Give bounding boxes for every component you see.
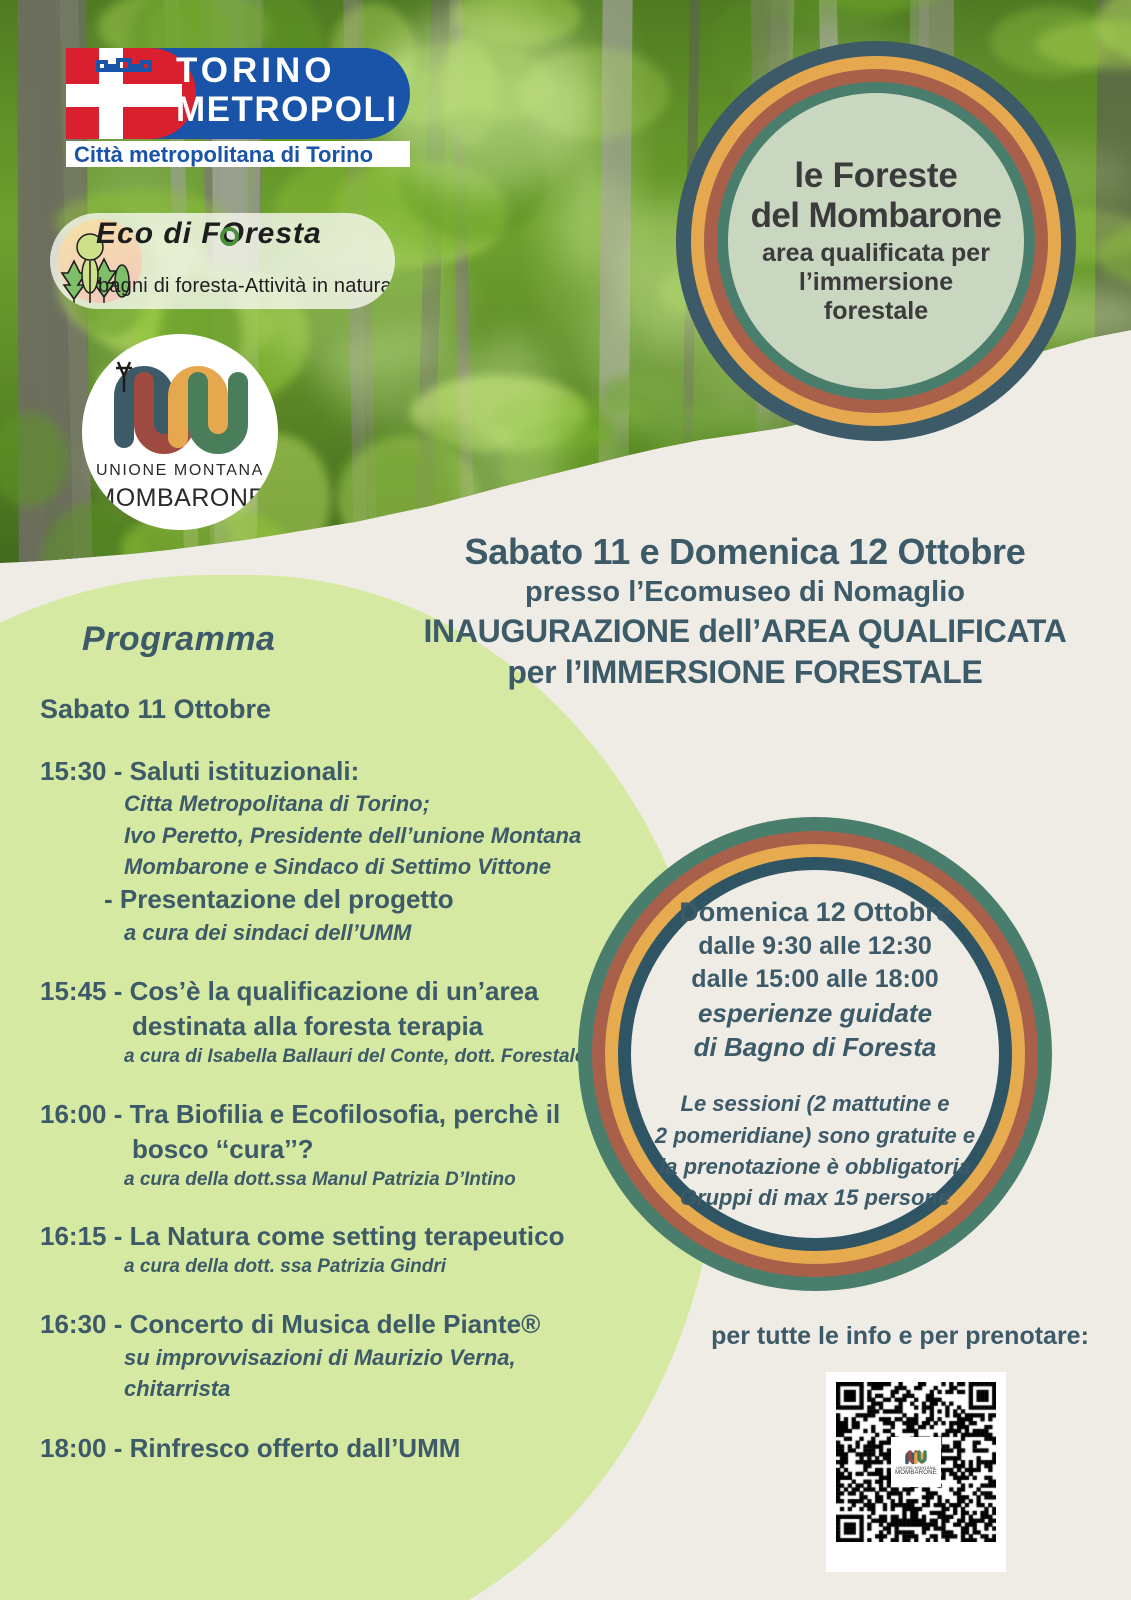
badge-line2: del Mombarone	[751, 196, 1002, 235]
header-dates: Sabato 11 e Domenica 12 Ottobre	[395, 530, 1095, 573]
badge-ring-brown: le Foreste del Mombarone area qualificat…	[704, 69, 1048, 413]
programma-slot: 15:30 - Saluti istituzionali: Citta Metr…	[40, 754, 620, 949]
domenica-note3: la prenotazione è obbligatoria	[659, 1151, 971, 1182]
slot-main: 15:45 - Cos’è la qualificazione di un’ar…	[40, 974, 620, 1009]
slot-main: 16:15 - La Natura come setting terapeuti…	[40, 1219, 620, 1254]
domenica-note2: 2 pomeridiane) sono gratuite e	[655, 1120, 975, 1151]
domenica-note4: Gruppi di max 15 persone	[680, 1182, 950, 1213]
torino-line2: METROPOLI	[176, 92, 398, 127]
header-block: Sabato 11 e Domenica 12 Ottobre presso l…	[395, 530, 1095, 692]
slot-main-cont: bosco ‘‘cura’’?	[40, 1132, 620, 1167]
programma-slot: 16:15 - La Natura come setting terapeuti…	[40, 1219, 620, 1281]
slot-main: 18:00 - Rinfresco offerto dall’UMM	[40, 1431, 620, 1466]
header-title-line2: per l’IMMERSIONE FORESTALE	[395, 652, 1095, 692]
slot-main: 16:30 - Concerto di Musica delle Piante®	[40, 1307, 620, 1342]
logo-unione-montana-mombarone: UNIONE MONTANA MOMBARONE	[82, 334, 278, 530]
poster-root: TORINO METROPOLI Città metropolitana di …	[0, 0, 1131, 1600]
eco-o-ring-icon	[220, 227, 239, 246]
slot-sub: su improvvisazioni di Maurizio Verna, ch…	[40, 1342, 620, 1404]
umm-line1: UNIONE MONTANA	[82, 462, 278, 480]
domenica-time2: dalle 15:00 alle 18:00	[691, 963, 938, 997]
domenica-time1: dalle 9:30 alle 12:30	[698, 930, 931, 964]
mombarone-forest-badge: le Foreste del Mombarone area qualificat…	[676, 41, 1076, 441]
domenica-ring-brown: Domenica 12 Ottobre dalle 9:30 alle 12:3…	[592, 831, 1038, 1277]
programma-slot: 18:00 - Rinfresco offerto dall’UMM	[40, 1431, 620, 1466]
torino-line3: Città metropolitana di Torino	[74, 142, 373, 167]
badge-line4: l’immersione forestale	[746, 268, 1006, 326]
qr-code[interactable]: UNIONE MONTANA MOMBARONE	[826, 1372, 1006, 1572]
slot-main: 15:30 - Saluti istituzionali:	[40, 754, 620, 789]
domenica-ring-orange: Domenica 12 Ottobre dalle 9:30 alle 12:3…	[605, 844, 1025, 1264]
header-title-line1: INAUGURAZIONE dell’AREA QUALIFICATA	[395, 611, 1095, 651]
domenica-title: Domenica 12 Ottobre	[679, 895, 951, 930]
domenica-note1: Le sessioni (2 mattutine e	[681, 1088, 950, 1119]
programma-slot: 15:45 - Cos’è la qualificazione di un’ar…	[40, 974, 620, 1071]
logo-torino-metropoli: TORINO METROPOLI Città metropolitana di …	[66, 48, 410, 165]
programma-slot: 16:30 - Concerto di Musica delle Piante®…	[40, 1307, 620, 1404]
domenica-activity2: di Bagno di Foresta	[694, 1031, 937, 1065]
badge-ring-green: le Foreste del Mombarone area qualificat…	[717, 82, 1035, 400]
slot-sub: a cura della dott. ssa Patrizia Gindri	[40, 1254, 620, 1281]
slot-main-secondary: - Presentazione del progetto	[40, 882, 620, 917]
umm-mark-small-icon	[901, 1448, 931, 1465]
logo-eco-di-foresta: Eco di FOresta bagni di foresta-Attività…	[50, 213, 395, 309]
slot-sub: a cura dei sindaci dell’UMM	[40, 917, 620, 948]
programma-list: Sabato 11 Ottobre 15:30 - Saluti istituz…	[40, 692, 620, 1465]
slot-main: 16:00 - Tra Biofilia e Ecofilosofia, per…	[40, 1097, 620, 1132]
badge-line1: le Foreste	[794, 156, 957, 195]
torino-line1: TORINO	[176, 53, 335, 88]
domenica-activity1: esperienze guidate	[698, 997, 932, 1031]
badge-core: le Foreste del Mombarone area qualificat…	[728, 93, 1024, 389]
slot-sub: Ivo Peretto, Presidente dell’unione Mont…	[40, 820, 620, 851]
programma-day: Sabato 11 Ottobre	[40, 692, 620, 728]
domenica-circle: Domenica 12 Ottobre dalle 9:30 alle 12:3…	[578, 817, 1052, 1291]
eco-tagline: bagni di foresta-Attività in natura	[98, 275, 392, 298]
slot-main-cont: destinata alla foresta terapia	[40, 1009, 620, 1044]
qr-logo-line2: MOMBARONE	[895, 1470, 937, 1476]
domenica-ring-slate: Domenica 12 Ottobre dalle 9:30 alle 12:3…	[618, 857, 1012, 1251]
header-venue: presso l’Ecomuseo di Nomaglio	[395, 573, 1095, 611]
domenica-core: Domenica 12 Ottobre dalle 9:30 alle 12:3…	[631, 870, 999, 1238]
crown-icon	[96, 56, 152, 74]
qr-center-logo: UNIONE MONTANA MOMBARONE	[891, 1437, 941, 1487]
slot-sub: a cura di Isabella Ballauri del Conte, d…	[40, 1044, 620, 1071]
programma-slot: 16:00 - Tra Biofilia e Ecofilosofia, per…	[40, 1097, 620, 1194]
badge-ring-orange: le Foreste del Mombarone area qualificat…	[691, 56, 1061, 426]
slot-sub: Mombarone e Sindaco di Settimo Vittone	[40, 851, 620, 882]
slot-sub: Citta Metropolitana di Torino;	[40, 788, 620, 819]
badge-line3: area qualificata per	[762, 239, 990, 268]
programma-heading: Programma	[82, 620, 275, 659]
umm-line2: MOMBARONE	[82, 484, 278, 513]
qr-grid: UNIONE MONTANA MOMBARONE	[836, 1382, 996, 1542]
eco-name: Eco di FOresta	[96, 217, 322, 251]
info-label: per tutte le info e per prenotare:	[700, 1322, 1100, 1351]
slot-sub: a cura della dott.ssa Manul Patrizia D’I…	[40, 1167, 620, 1194]
umm-mark-icon	[82, 342, 278, 462]
